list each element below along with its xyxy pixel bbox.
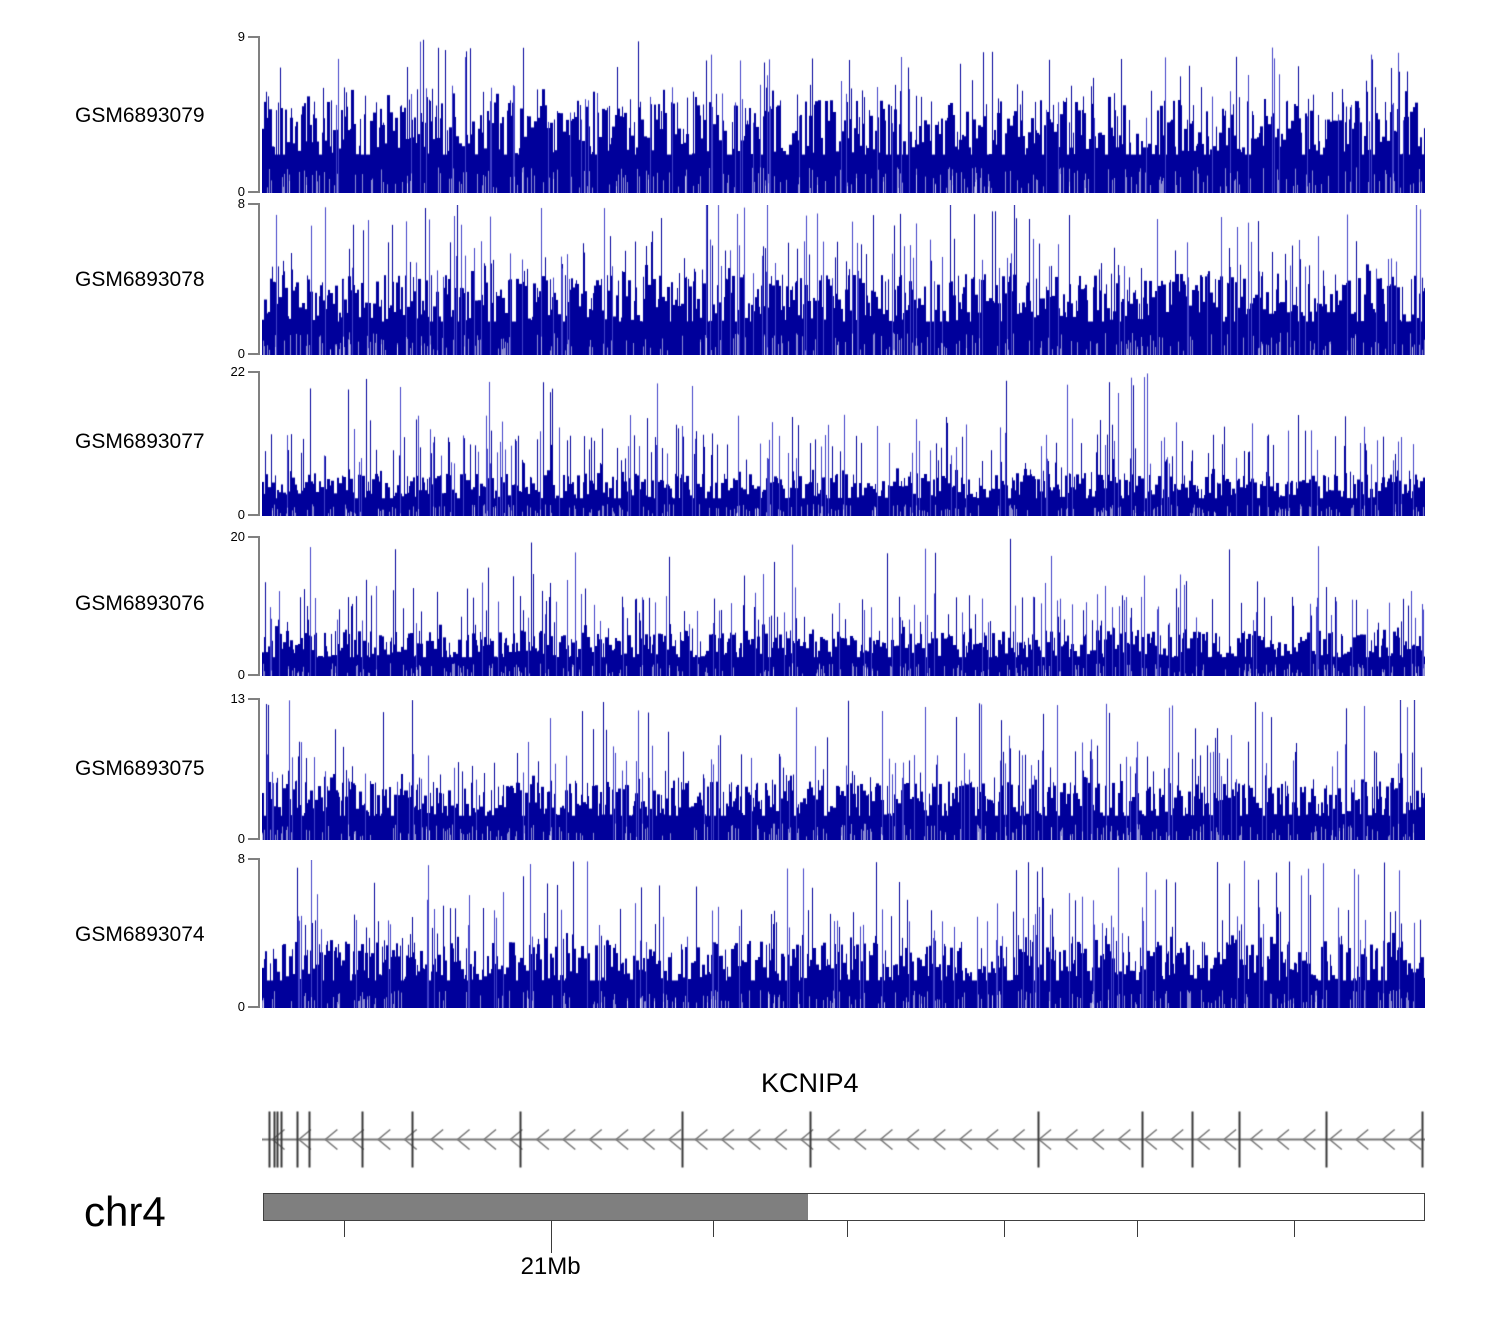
- coverage-plot-area[interactable]: [262, 373, 1425, 516]
- coverage-track[interactable]: GSM689307990: [0, 38, 1500, 193]
- y-axis-max-label: 13: [205, 692, 245, 705]
- y-axis-tick-min: [248, 191, 260, 193]
- coverage-plot-area[interactable]: [262, 538, 1425, 676]
- y-axis-tick-min: [248, 353, 260, 355]
- y-axis-tick-max: [248, 698, 260, 700]
- y-axis-min-label: 0: [205, 347, 245, 360]
- coverage-canvas: [262, 373, 1425, 516]
- chromosome-label: chr4: [84, 1188, 166, 1236]
- coverage-track[interactable]: GSM6893076200: [0, 538, 1500, 676]
- y-axis-min-label: 0: [205, 508, 245, 521]
- coverage-canvas: [262, 38, 1425, 193]
- ruler-minor-tick: [713, 1221, 714, 1237]
- y-axis-max-label: 8: [205, 852, 245, 865]
- coverage-track[interactable]: GSM689307480: [0, 860, 1500, 1008]
- ruler-minor-tick: [847, 1221, 848, 1237]
- coverage-plot-area[interactable]: [262, 700, 1425, 840]
- genome-ruler: [263, 1221, 1425, 1261]
- ideogram-bar[interactable]: [263, 1193, 1425, 1221]
- track-sample-label: GSM6893079: [75, 104, 235, 128]
- y-axis-max-label: 9: [205, 30, 245, 43]
- ruler-minor-tick: [1137, 1221, 1138, 1237]
- ruler-minor-tick: [1004, 1221, 1005, 1237]
- y-axis-min-label: 0: [205, 1000, 245, 1013]
- coverage-plot-area[interactable]: [262, 38, 1425, 193]
- track-sample-label: GSM6893076: [75, 592, 235, 616]
- coverage-canvas: [262, 700, 1425, 840]
- ruler-tick-label: 21Mb: [521, 1253, 581, 1281]
- coverage-plot-area[interactable]: [262, 860, 1425, 1008]
- ruler-major-tick: [551, 1221, 552, 1253]
- y-axis-max-label: 8: [205, 197, 245, 210]
- y-axis-tick-max: [248, 203, 260, 205]
- coverage-canvas: [262, 860, 1425, 1008]
- coverage-canvas: [262, 205, 1425, 355]
- y-axis-tick-min: [248, 674, 260, 676]
- gene-model-track[interactable]: [262, 1100, 1425, 1175]
- y-axis-tick-max: [248, 371, 260, 373]
- y-axis-tick-min: [248, 1006, 260, 1008]
- genome-browser-figure: GSM689307990GSM689307880GSM6893077220GSM…: [0, 0, 1500, 1320]
- coverage-track[interactable]: GSM689307880: [0, 205, 1500, 355]
- ruler-minor-tick: [1294, 1221, 1295, 1237]
- y-axis-tick-min: [248, 514, 260, 516]
- y-axis-max-label: 22: [205, 365, 245, 378]
- gene-model-canvas: [262, 1100, 1425, 1175]
- y-axis-tick-max: [248, 536, 260, 538]
- coverage-track[interactable]: GSM6893077220: [0, 373, 1500, 516]
- ideogram-band: [264, 1194, 808, 1220]
- y-axis-tick-max: [248, 858, 260, 860]
- track-sample-label: GSM6893075: [75, 757, 235, 781]
- coverage-canvas: [262, 538, 1425, 676]
- track-sample-label: GSM6893077: [75, 430, 235, 454]
- coverage-track[interactable]: GSM6893075130: [0, 700, 1500, 840]
- track-sample-label: GSM6893078: [75, 268, 235, 292]
- y-axis-tick-max: [248, 36, 260, 38]
- coverage-plot-area[interactable]: [262, 205, 1425, 355]
- y-axis-min-label: 0: [205, 668, 245, 681]
- y-axis-min-label: 0: [205, 832, 245, 845]
- track-sample-label: GSM6893074: [75, 923, 235, 947]
- gene-name-label: KCNIP4: [761, 1068, 859, 1099]
- ruler-minor-tick: [344, 1221, 345, 1237]
- y-axis-tick-min: [248, 838, 260, 840]
- y-axis-max-label: 20: [205, 530, 245, 543]
